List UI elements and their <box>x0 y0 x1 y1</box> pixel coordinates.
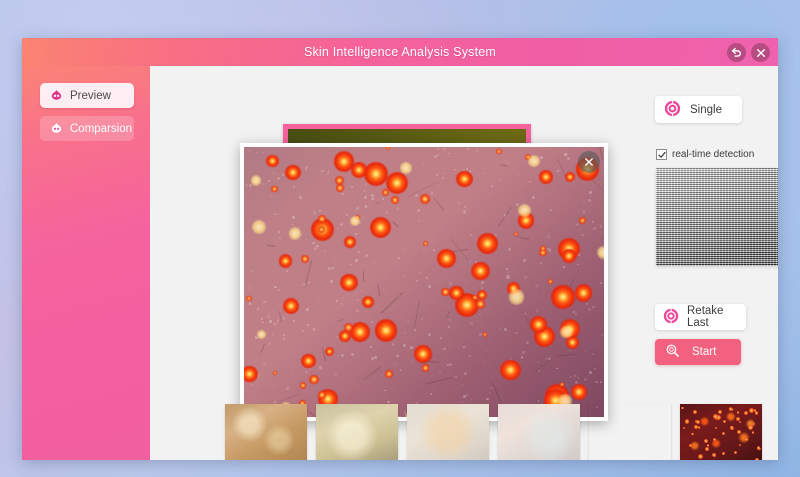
start-label: Start <box>692 346 716 358</box>
thumbnail-3[interactable] <box>407 404 489 460</box>
thumbnail-strip <box>225 404 775 460</box>
thumbnail-image <box>498 404 580 460</box>
thumbnail-image <box>316 404 398 460</box>
content-area: Single real-time detection <box>150 66 778 460</box>
sidebar-item-comparsion-label: Comparsion <box>70 123 132 135</box>
thumbnail-image <box>407 404 489 460</box>
start-button[interactable]: Start <box>655 339 741 365</box>
thumbnail-image <box>589 404 671 460</box>
fluorescent-spot-overlay <box>244 147 604 417</box>
sidebar-item-preview-label: Preview <box>70 90 111 102</box>
thumbnail-image <box>225 404 307 460</box>
control-panel: Single real-time detection <box>650 96 778 426</box>
window-title: Skin Intelligence Analysis System <box>304 45 496 59</box>
thumbnail-6[interactable] <box>680 404 762 460</box>
magnifier-icon <box>665 343 680 361</box>
realtime-detection-checkbox[interactable]: real-time detection <box>656 149 754 160</box>
flame-icon <box>50 122 63 135</box>
thumbnail-2[interactable] <box>316 404 398 460</box>
application-window: Skin Intelligence Analysis System Pr <box>22 38 778 460</box>
thumbnail-spot-overlay <box>680 404 762 460</box>
sidebar: Preview Comparsion <box>22 66 150 460</box>
flame-icon <box>50 89 63 102</box>
title-bar: Skin Intelligence Analysis System <box>22 38 778 66</box>
sidebar-item-preview[interactable]: Preview <box>40 83 134 108</box>
target-icon <box>664 100 681 120</box>
retake-last-button[interactable]: Retake Last <box>655 304 746 330</box>
thumbnail-4[interactable] <box>498 404 580 460</box>
close-icon[interactable] <box>751 43 770 62</box>
close-icon[interactable] <box>578 151 600 173</box>
thumbnail-5[interactable] <box>589 404 671 460</box>
enlarged-skin-image <box>244 147 604 417</box>
undo-arrow-icon[interactable] <box>727 43 746 62</box>
sidebar-item-comparsion[interactable]: Comparsion <box>40 116 134 141</box>
grayscale-signal-preview <box>656 168 778 266</box>
thumbnail-1[interactable] <box>225 404 307 460</box>
checkbox-box <box>656 149 667 160</box>
retake-last-label: Retake Last <box>687 305 746 329</box>
realtime-detection-label: real-time detection <box>672 149 754 160</box>
single-mode-button[interactable]: Single <box>655 96 742 123</box>
scanline-overlay <box>656 168 778 266</box>
enlarged-image-popup[interactable] <box>240 143 608 421</box>
target-icon <box>663 308 679 327</box>
single-mode-label: Single <box>690 104 722 116</box>
